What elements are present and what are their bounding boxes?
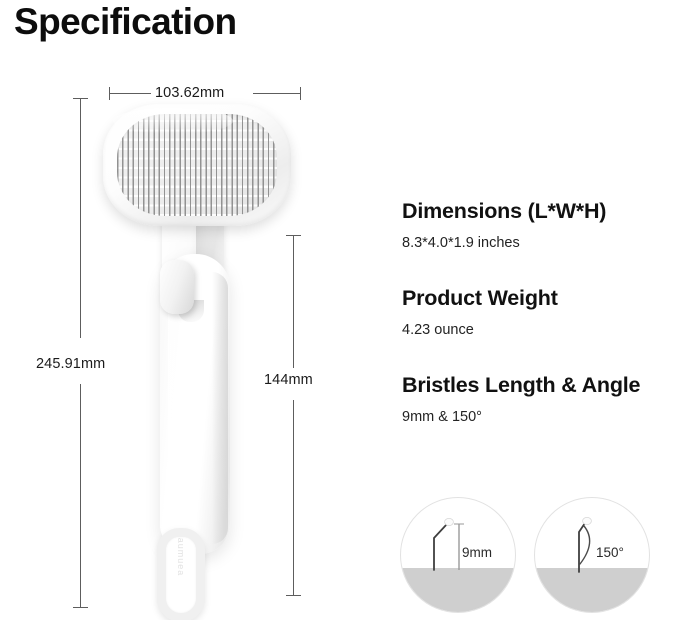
width-dimension-label: 103.62mm	[155, 85, 224, 101]
spec-list: Dimensions (L*W*H) 8.3*4.0*1.9 inches Pr…	[402, 198, 670, 459]
bristle-angle-caption: 150°	[596, 545, 624, 560]
bristle-length-icon	[401, 498, 515, 612]
spec-item-bristles: Bristles Length & Angle 9mm & 150°	[402, 372, 670, 428]
brush-head-highlight	[113, 108, 233, 134]
bristle-angle-icon	[535, 498, 649, 612]
brush-head	[103, 104, 291, 226]
spec-value-dimensions: 8.3*4.0*1.9 inches	[402, 232, 670, 254]
total-height-line-bottom	[80, 384, 81, 608]
spec-value-weight: 4.23 ounce	[402, 319, 670, 341]
width-dimension-line-left	[109, 93, 151, 94]
spec-heading-bristles: Bristles Length & Angle	[402, 372, 670, 399]
spec-heading-dimensions: Dimensions (L*W*H)	[402, 198, 670, 225]
bristle-angle-diagram	[534, 497, 650, 613]
total-height-label: 245.91mm	[36, 356, 105, 372]
spec-heading-weight: Product Weight	[402, 285, 670, 312]
bristle-detail-figures: 9mm 150°	[400, 497, 660, 617]
brush-handle-edge-shadow	[212, 272, 228, 544]
specification-page: Specification 103.62mm 245.91mm 144mm au…	[0, 0, 679, 620]
total-height-tick-bottom	[73, 607, 88, 608]
spec-item-weight: Product Weight 4.23 ounce	[402, 285, 670, 341]
bristle-length-caption: 9mm	[462, 545, 492, 560]
width-dimension-line-right	[253, 93, 300, 94]
total-height-line-top	[80, 98, 81, 338]
bristle-length-diagram	[400, 497, 516, 613]
spec-item-dimensions: Dimensions (L*W*H) 8.3*4.0*1.9 inches	[402, 198, 670, 254]
brush-loop-brand-text: aumuea	[176, 520, 186, 594]
page-title: Specification	[14, 0, 236, 46]
spec-value-bristles: 9mm & 150°	[402, 406, 670, 428]
width-dimension-tick-right	[300, 87, 301, 100]
product-illustration: aumuea	[100, 104, 300, 604]
brush-release-button	[160, 260, 194, 314]
